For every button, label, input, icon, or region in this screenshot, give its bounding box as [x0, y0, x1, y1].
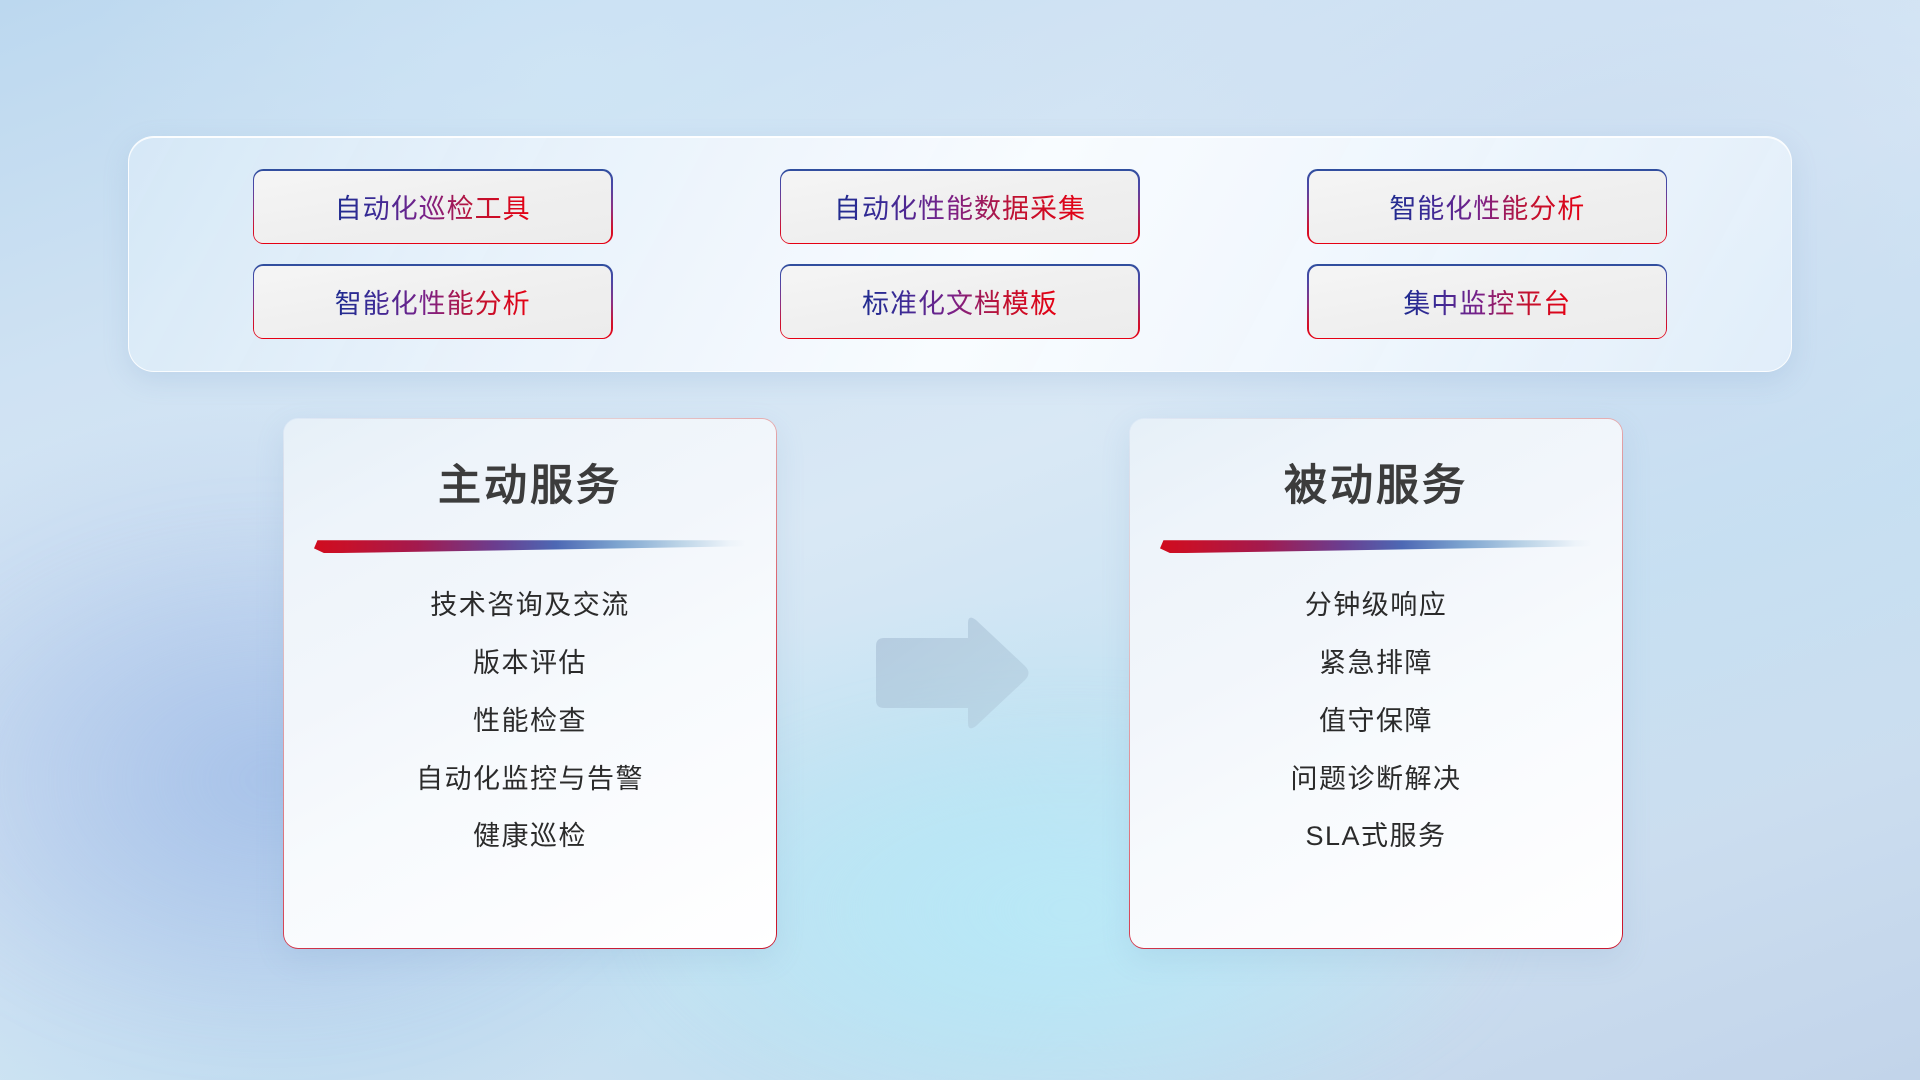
list-item: 健康巡检 [473, 820, 587, 854]
capability-pill-label: 标准化文档模板 [862, 282, 1058, 321]
capability-pill-label: 自动化巡检工具 [335, 187, 531, 226]
list-item: 性能检查 [473, 705, 587, 739]
capability-pill-label: 智能化性能分析 [1389, 187, 1585, 226]
capability-pill-label: 智能化性能分析 [335, 282, 531, 321]
capability-pill-1[interactable]: 自动化巡检工具 [254, 171, 611, 243]
capability-pill-3[interactable]: 智能化性能分析 [1309, 171, 1666, 243]
diagram-stage: 自动化巡检工具 自动化性能数据采集 智能化性能分析 智能化性能分析 标准化文档模… [0, 0, 1920, 1080]
list-item: 紧急排障 [1319, 647, 1433, 681]
capability-pill-5[interactable]: 标准化文档模板 [781, 266, 1138, 338]
card-title: 被动服务 [1284, 463, 1468, 510]
list-item: 版本评估 [473, 647, 587, 681]
service-card-reactive[interactable]: 被动服务 分钟级响应 紧急排障 值守保障 问题诊断解决 SLA式服务 [1130, 419, 1622, 948]
service-item-list: 技术咨询及交流 版本评估 性能检查 自动化监控与告警 健康巡检 [314, 589, 746, 854]
arrow-right-icon [872, 614, 1032, 732]
service-card-proactive[interactable]: 主动服务 技术咨询及交流 版本评估 性能检查 自动化监控与告警 健康巡检 [284, 419, 776, 948]
list-item: 分钟级响应 [1305, 589, 1448, 623]
list-item: 技术咨询及交流 [430, 589, 630, 623]
card-divider [314, 540, 746, 553]
capability-pill-6[interactable]: 集中监控平台 [1309, 266, 1666, 338]
list-item: 值守保障 [1319, 705, 1433, 739]
list-item: SLA式服务 [1305, 820, 1446, 854]
capability-pill-2[interactable]: 自动化性能数据采集 [781, 171, 1138, 243]
capability-pill-label: 自动化性能数据采集 [834, 187, 1086, 226]
card-divider [1160, 540, 1592, 553]
capability-pill-label: 集中监控平台 [1403, 282, 1571, 321]
capability-panel: 自动化巡检工具 自动化性能数据采集 智能化性能分析 智能化性能分析 标准化文档模… [128, 136, 1792, 372]
list-item: 问题诊断解决 [1291, 763, 1462, 797]
list-item: 自动化监控与告警 [416, 763, 644, 797]
capability-pill-4[interactable]: 智能化性能分析 [254, 266, 611, 338]
service-item-list: 分钟级响应 紧急排障 值守保障 问题诊断解决 SLA式服务 [1160, 589, 1592, 854]
card-title: 主动服务 [438, 463, 622, 510]
